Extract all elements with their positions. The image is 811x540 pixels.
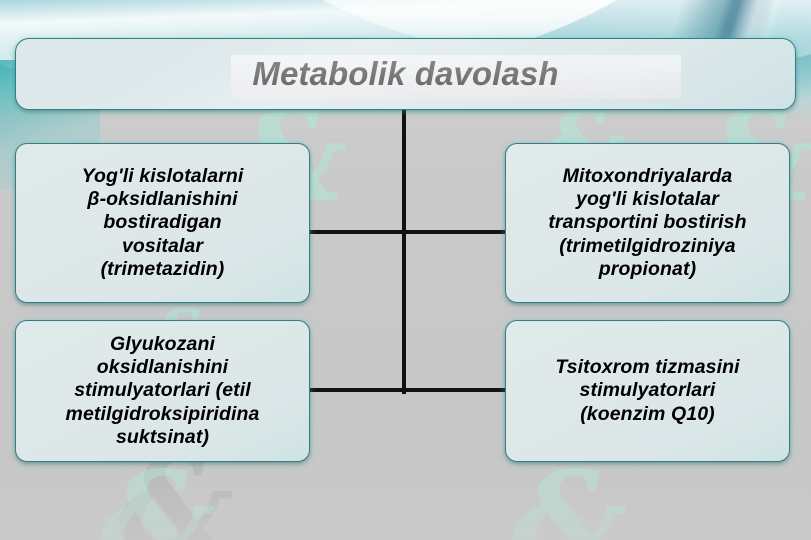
diagram-node-label: Tsitoxrom tizmasini stimulyatorlari (koe… <box>547 356 747 426</box>
bottom-glow <box>0 450 811 540</box>
page-title: Metabolik davolash <box>252 57 558 92</box>
diagram-node-label: Yog'li kislotalarni β-oksidlanishini bos… <box>74 165 252 282</box>
connector-crossbar-bottom <box>310 388 505 392</box>
diagram-node-top-left: Yog'li kislotalarni β-oksidlanishini bos… <box>15 143 310 303</box>
diagram-node-bottom-right: Tsitoxrom tizmasini stimulyatorlari (koe… <box>505 320 790 462</box>
diagram-node-label: Mitoxondriyalarda yog'li kislotalar tran… <box>540 165 754 282</box>
diagram-node-bottom-left: Glyukozani oksidlanishini stimulyatorlar… <box>15 320 310 462</box>
connector-vertical-trunk <box>402 110 406 394</box>
diagram-title-box: Metabolik davolash <box>15 38 796 110</box>
connector-crossbar-top <box>310 230 505 234</box>
slide-canvas: & & & & & & & Metabolik davolash Yog'li … <box>0 0 811 540</box>
diagram-node-top-right: Mitoxondriyalarda yog'li kislotalar tran… <box>505 143 790 303</box>
diagram-node-label: Glyukozani oksidlanishini stimulyatorlar… <box>58 333 268 450</box>
